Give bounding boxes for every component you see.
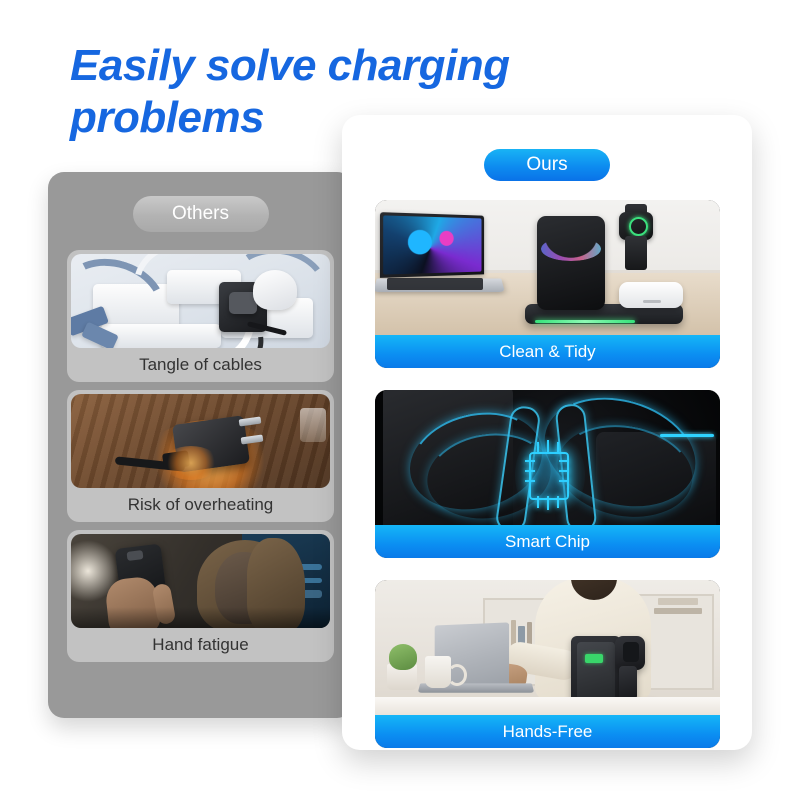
ours-card-caption: Smart Chip — [375, 525, 720, 558]
tangled-cables-photo — [71, 254, 330, 348]
others-badge-label: Others — [172, 203, 229, 225]
ours-badge-label: Ours — [526, 154, 567, 176]
overheating-charger-photo — [71, 394, 330, 488]
ours-panel: Ours — [342, 115, 752, 750]
ours-badge: Ours — [484, 149, 610, 181]
ours-card-caption: Clean & Tidy — [375, 335, 720, 368]
others-card-caption: Risk of overheating — [67, 488, 334, 522]
hands-free-workspace-photo — [375, 580, 720, 715]
ours-card-caption: Hands-Free — [375, 715, 720, 748]
ours-card-clean-and-tidy: Clean & Tidy — [375, 200, 720, 368]
others-card-caption: Tangle of cables — [67, 348, 334, 382]
tired-woman-phone-photo — [71, 534, 330, 628]
ours-card-hands-free: Hands-Free — [375, 580, 720, 748]
infographic-canvas: Easily solve charging problems Others — [0, 0, 800, 800]
ours-card-smart-chip: Smart Chip — [375, 390, 720, 558]
others-card-list: Tangle of cables — [67, 250, 334, 670]
tidy-desk-dock-photo — [375, 200, 720, 335]
others-card-caption: Hand fatigue — [67, 628, 334, 662]
others-card-tangle-of-cables: Tangle of cables — [67, 250, 334, 382]
others-panel: Others — [48, 172, 353, 718]
ours-card-list: Clean & Tidy — [375, 200, 720, 770]
smart-chip-circuit-photo — [375, 390, 720, 525]
others-card-hand-fatigue: Hand fatigue — [67, 530, 334, 662]
others-card-risk-of-overheating: Risk of overheating — [67, 390, 334, 522]
others-badge: Others — [133, 196, 269, 232]
